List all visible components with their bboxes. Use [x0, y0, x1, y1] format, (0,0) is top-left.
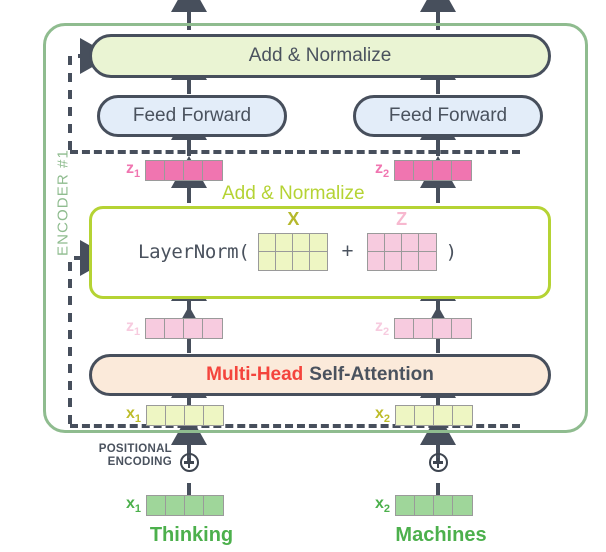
feed-forward-left-block[interactable]: Feed Forward [97, 95, 287, 137]
vector-cell [434, 406, 453, 425]
matrix-cell [385, 234, 402, 252]
vector-cell [147, 496, 166, 515]
vector-cell [414, 319, 433, 338]
vector-z2-lower: z2 [375, 318, 472, 339]
vector-cell [433, 319, 452, 338]
matrix-cell [276, 234, 293, 252]
vector-cell [184, 319, 203, 338]
vector-z2-upper-label: z2 [375, 160, 389, 180]
matrix-x-label: X [258, 209, 328, 230]
diagram-canvas: ENCODER #1 Add & Normalize Feed Forward … [0, 0, 606, 552]
vector-x1-olive: x1 [126, 405, 224, 426]
matrix-z-cells [367, 233, 437, 271]
matrix-cell [419, 252, 436, 270]
matrix-cell [402, 252, 419, 270]
vector-z1-upper: z1 [126, 160, 223, 181]
matrix-x-cells [258, 233, 328, 271]
vector-cell [434, 496, 453, 515]
positional-encoding-line2: ENCODING [88, 456, 172, 469]
positional-encoding-line1: POSITIONAL [88, 443, 172, 456]
vector-cell [203, 319, 222, 338]
vector-cell [452, 161, 471, 180]
matrix-z: Z [367, 233, 437, 271]
matrix-cell [402, 234, 419, 252]
layernorm-open-text: LayerNorm( [138, 241, 249, 263]
vector-cell [453, 496, 472, 515]
encoder-label: ENCODER #1 [55, 123, 72, 283]
matrix-cell [293, 234, 310, 252]
positional-encoding-label: POSITIONAL ENCODING [88, 443, 172, 469]
vector-x1-green-label: x1 [126, 495, 141, 515]
vector-cell [396, 406, 415, 425]
circle-plus-icon [180, 453, 199, 472]
vector-cell [433, 161, 452, 180]
vector-z2-lower-label: z2 [375, 318, 389, 338]
vector-x2-olive-cells [395, 405, 473, 426]
matrix-cell [276, 252, 293, 270]
matrix-cell [293, 252, 310, 270]
vector-cell [165, 161, 184, 180]
layernorm-plus-sign: + [337, 240, 357, 264]
vector-z1-lower-cells [145, 318, 223, 339]
vector-cell [185, 406, 204, 425]
word-label-right: Machines [376, 524, 506, 547]
vector-x2-green: x2 [375, 495, 473, 516]
attention-suffix-label: Self-Attention [309, 364, 434, 386]
add-normalize-top-block[interactable]: Add & Normalize [89, 34, 551, 78]
vector-cell [204, 406, 223, 425]
vector-cell [415, 496, 434, 515]
vector-x2-green-cells [395, 495, 473, 516]
vector-cell [146, 161, 165, 180]
layernorm-expression: LayerNorm( X + Z [138, 233, 457, 271]
vector-z1-lower: z1 [126, 318, 223, 339]
vector-cell [165, 319, 184, 338]
vector-x2-olive-label: x2 [375, 405, 390, 425]
vector-z1-upper-cells [145, 160, 223, 181]
vector-cell [185, 496, 204, 515]
vector-x1-green: x1 [126, 495, 224, 516]
vector-x2-green-label: x2 [375, 495, 390, 515]
matrix-cell [385, 252, 402, 270]
matrix-cell [259, 234, 276, 252]
vector-cell [452, 319, 471, 338]
layernorm-close-paren: ) [446, 241, 457, 263]
vector-cell [184, 161, 203, 180]
feed-forward-right-label: Feed Forward [389, 105, 507, 127]
vector-z1-upper-label: z1 [126, 160, 140, 180]
matrix-cell [259, 252, 276, 270]
vector-cell [415, 406, 434, 425]
vector-z2-upper-cells [394, 160, 472, 181]
vector-x2-olive: x2 [375, 405, 473, 426]
matrix-cell [419, 234, 436, 252]
vector-x1-olive-cells [146, 405, 224, 426]
vector-z1-lower-label: z1 [126, 318, 140, 338]
vector-cell [395, 161, 414, 180]
vector-x1-green-cells [146, 495, 224, 516]
vector-cell [166, 496, 185, 515]
matrix-x: X [258, 233, 328, 271]
vector-cell [414, 161, 433, 180]
feed-forward-right-block[interactable]: Feed Forward [353, 95, 543, 137]
vector-x1-olive-label: x1 [126, 405, 141, 425]
matrix-cell [310, 234, 327, 252]
vector-z2-lower-cells [394, 318, 472, 339]
attention-prefix-label: Multi-Head [206, 364, 303, 386]
vector-cell [146, 319, 165, 338]
matrix-cell [368, 234, 385, 252]
multi-head-self-attention-block[interactable]: Multi-Head Self-Attention [89, 354, 551, 396]
add-normalize-top-label: Add & Normalize [249, 45, 392, 67]
word-label-left: Thinking [129, 524, 254, 547]
vector-cell [147, 406, 166, 425]
add-normalize-mid-label: Add & Normalize [222, 183, 365, 205]
matrix-cell [310, 252, 327, 270]
vector-cell [204, 496, 223, 515]
vector-cell [203, 161, 222, 180]
vector-cell [396, 496, 415, 515]
feed-forward-left-label: Feed Forward [133, 105, 251, 127]
vector-z2-upper: z2 [375, 160, 472, 181]
vector-cell [166, 406, 185, 425]
matrix-z-label: Z [367, 209, 437, 230]
matrix-cell [368, 252, 385, 270]
circle-plus-icon [429, 453, 448, 472]
vector-cell [395, 319, 414, 338]
vector-cell [453, 406, 472, 425]
